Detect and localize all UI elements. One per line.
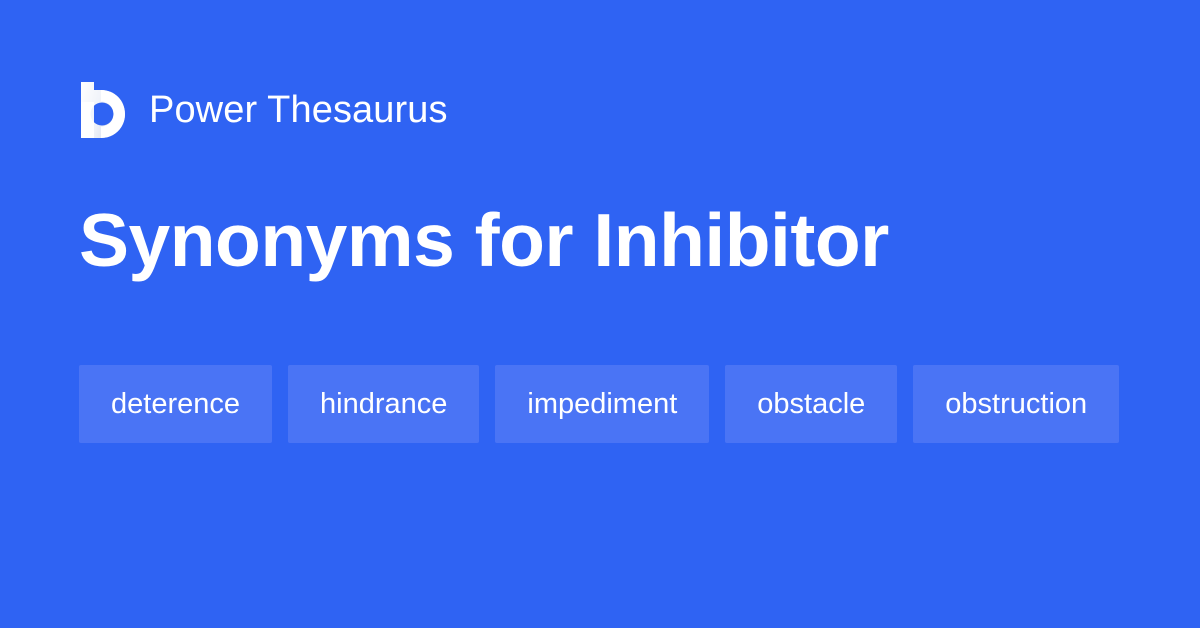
brand-lockup[interactable]: Power Thesaurus xyxy=(79,82,448,138)
synonym-chip[interactable]: deterence xyxy=(79,365,272,443)
synonym-chip[interactable]: obstacle xyxy=(725,365,897,443)
synonym-chip[interactable]: hindrance xyxy=(288,365,479,443)
page-title: Synonyms for Inhibitor xyxy=(79,198,889,282)
share-card: Power Thesaurus Synonyms for Inhibitor d… xyxy=(0,0,1200,628)
synonym-chip[interactable]: impediment xyxy=(495,365,709,443)
brand-name: Power Thesaurus xyxy=(149,91,448,129)
synonym-chip[interactable]: obstruction xyxy=(913,365,1119,443)
synonym-chip-list: deterence hindrance impediment obstacle … xyxy=(79,365,1129,443)
power-thesaurus-b-logo-icon xyxy=(79,82,127,138)
